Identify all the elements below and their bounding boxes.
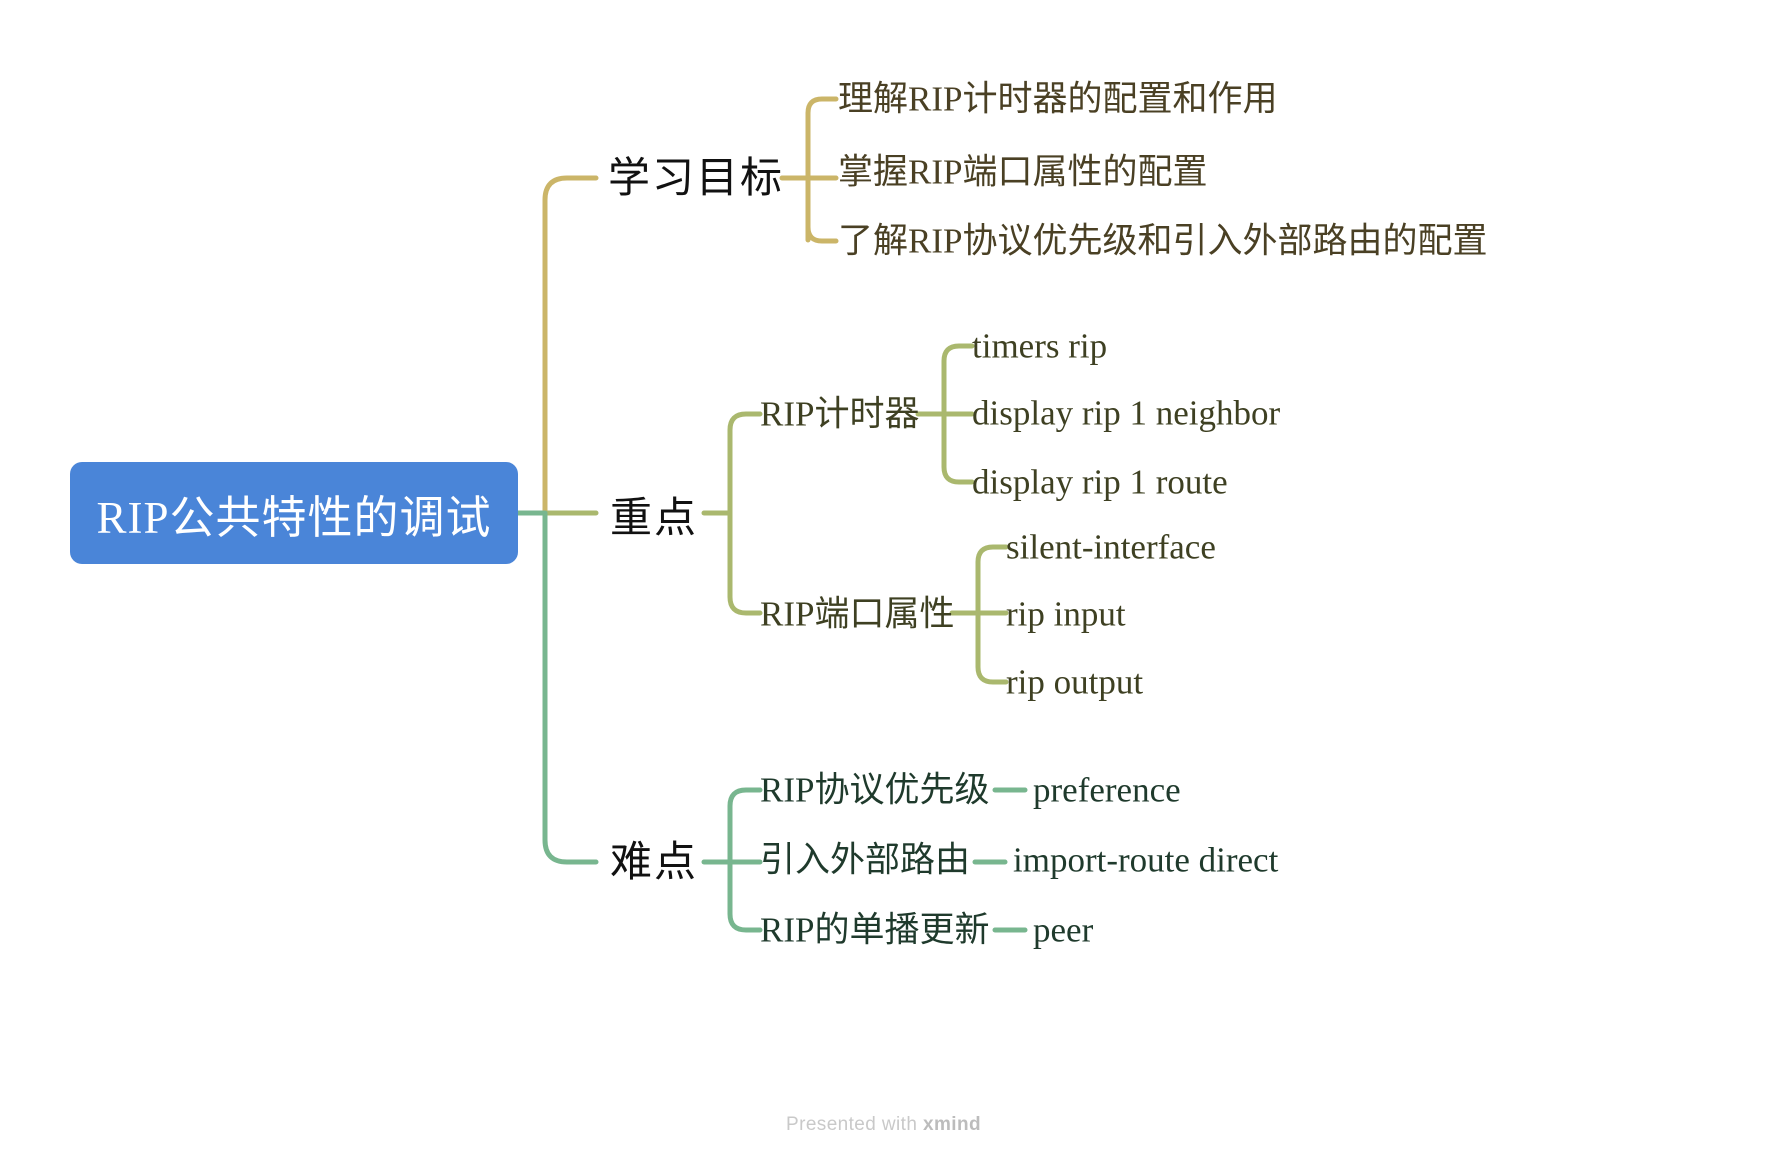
wire-key-to-timer (730, 414, 760, 513)
topic-goal-3[interactable]: 了解RIP协议优先级和引入外部路由的配置 (838, 224, 1487, 259)
wire-iface-c3 (978, 613, 1006, 682)
wire-iface-c1 (978, 547, 1006, 613)
wire-key-to-iface (730, 513, 760, 613)
branch-title-hard[interactable]: 难点 (610, 841, 698, 883)
branch-title-goal[interactable]: 学习目标 (608, 157, 784, 199)
topic-import-external-route[interactable]: 引入外部路由 (760, 843, 970, 878)
topic-rip-timer[interactable]: RIP计时器 (760, 397, 919, 432)
topic-preference-cmd[interactable]: preference (1033, 773, 1181, 808)
wire-timer-c3 (944, 414, 972, 482)
watermark: Presented with xmind (0, 1114, 1767, 1136)
root-node-label: RIP公共特性的调试 (96, 481, 491, 546)
topic-import-route-cmd[interactable]: import-route direct (1013, 843, 1278, 878)
topic-rip-output[interactable]: rip output (1006, 665, 1143, 700)
branch-title-key[interactable]: 重点 (610, 497, 698, 539)
topic-rip-interface-attr[interactable]: RIP端口属性 (760, 597, 954, 632)
wire-root-to-hard (518, 513, 596, 862)
topic-rip-input[interactable]: rip input (1006, 597, 1126, 632)
mindmap-canvas: RIP公共特性的调试 学习目标 理解RIP计时器的配置和作用 掌握RIP端口属性… (0, 0, 1767, 1159)
topic-timers-rip[interactable]: timers rip (972, 329, 1107, 364)
topic-goal-2[interactable]: 掌握RIP端口属性的配置 (838, 155, 1207, 190)
wire-hard-c1 (730, 790, 760, 862)
topic-silent-interface[interactable]: silent-interface (1006, 530, 1216, 565)
topic-goal-1[interactable]: 理解RIP计时器的配置和作用 (838, 82, 1277, 117)
wire-goal-spine-down (808, 178, 836, 241)
topic-rip-preference[interactable]: RIP协议优先级 (760, 773, 989, 808)
topic-display-rip-route[interactable]: display rip 1 route (972, 465, 1228, 500)
wire-timer-c1 (944, 346, 972, 414)
topic-peer-cmd[interactable]: peer (1033, 913, 1093, 948)
watermark-prefix: Presented with (786, 1114, 923, 1135)
watermark-brand: xmind (923, 1114, 981, 1135)
root-node[interactable]: RIP公共特性的调试 (70, 462, 518, 564)
topic-rip-unicast-update[interactable]: RIP的单播更新 (760, 913, 989, 948)
wire-goal-spine-up (808, 99, 836, 240)
topic-display-rip-neighbor[interactable]: display rip 1 neighbor (972, 396, 1280, 431)
wire-hard-c3 (730, 862, 760, 930)
wire-root-to-goal (518, 178, 596, 513)
